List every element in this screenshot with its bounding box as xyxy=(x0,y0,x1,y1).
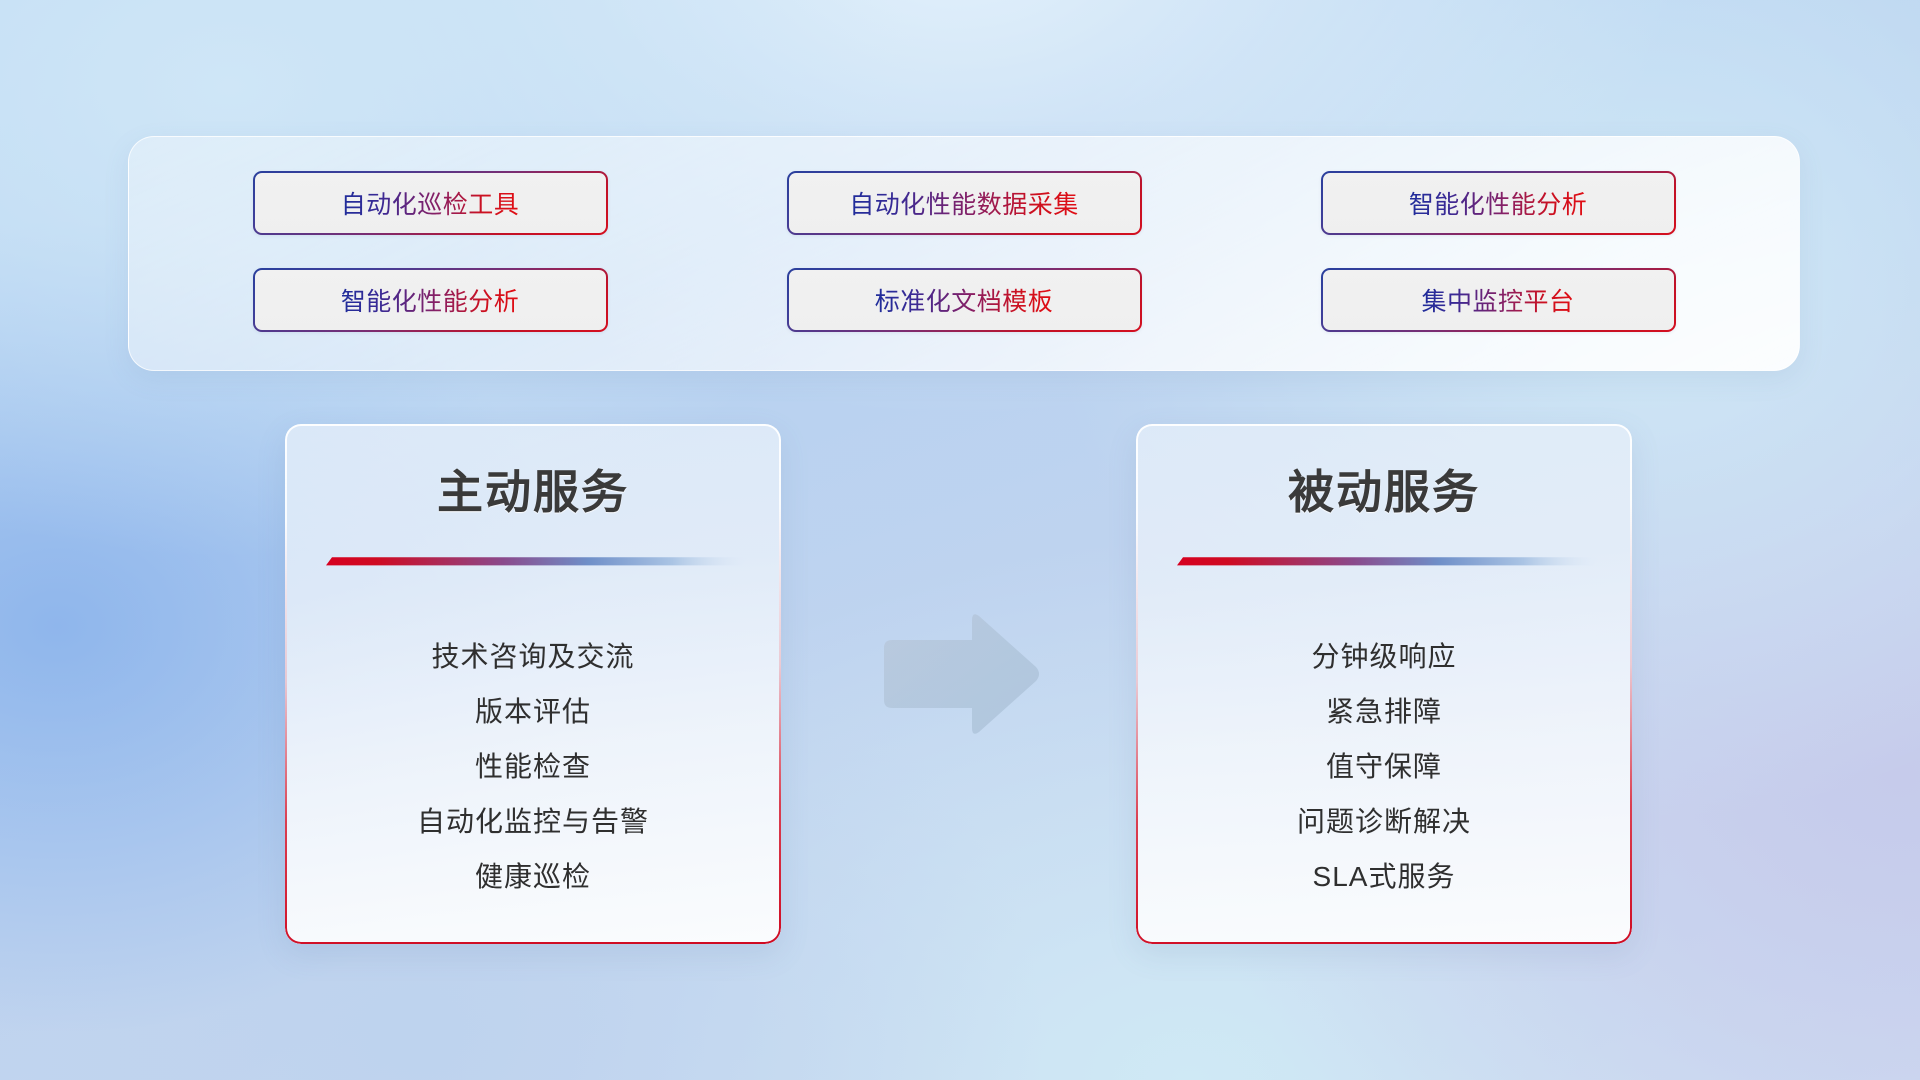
list-item: 分钟级响应 xyxy=(1311,635,1456,675)
right-arrow-icon xyxy=(876,610,1044,738)
service-card-title: 被动服务 xyxy=(1136,456,1632,522)
capability-tag-label: 集中监控平台 xyxy=(1421,282,1574,318)
card-divider-icon xyxy=(318,556,748,566)
capability-tag-label: 自动化性能数据采集 xyxy=(849,185,1079,221)
list-item: 性能检查 xyxy=(475,745,591,785)
service-card-title: 主动服务 xyxy=(285,456,781,522)
list-item: 版本评估 xyxy=(475,690,591,730)
list-item: SLA式服务 xyxy=(1313,855,1456,895)
capability-tag[interactable]: 智能化性能分析 xyxy=(253,268,608,332)
list-item: 健康巡检 xyxy=(475,855,591,895)
service-card-active: 主动服务 技术咨询及交流 版本评估 性能检查 自动化监控与告警 健康巡检 xyxy=(285,424,781,944)
list-item: 问题诊断解决 xyxy=(1297,800,1471,840)
capability-tag[interactable]: 集中监控平台 xyxy=(1321,268,1676,332)
capability-tag[interactable]: 标准化文档模板 xyxy=(787,268,1142,332)
capability-tag-panel: 自动化巡检工具 自动化性能数据采集 智能化性能分析 智能化性能分析 标准化文档模… xyxy=(128,136,1800,371)
list-item: 值守保障 xyxy=(1326,745,1442,785)
service-card-list: 技术咨询及交流 版本评估 性能检查 自动化监控与告警 健康巡检 xyxy=(285,620,781,910)
service-card-passive: 被动服务 分钟级响应 紧急排障 值守保障 问题诊断解决 SLA式服务 xyxy=(1136,424,1632,944)
capability-tag[interactable]: 自动化巡检工具 xyxy=(253,171,608,235)
slide-root: 自动化巡检工具 自动化性能数据采集 智能化性能分析 智能化性能分析 标准化文档模… xyxy=(0,0,1920,1080)
capability-tag[interactable]: 自动化性能数据采集 xyxy=(787,171,1142,235)
list-item: 技术咨询及交流 xyxy=(431,635,634,675)
capability-tag-label: 智能化性能分析 xyxy=(1409,185,1588,221)
capability-tag[interactable]: 智能化性能分析 xyxy=(1321,171,1676,235)
list-item: 紧急排障 xyxy=(1326,690,1442,730)
capability-tag-grid: 自动化巡检工具 自动化性能数据采集 智能化性能分析 智能化性能分析 标准化文档模… xyxy=(129,137,1799,370)
list-item: 自动化监控与告警 xyxy=(417,800,649,840)
capability-tag-label: 标准化文档模板 xyxy=(875,282,1054,318)
capability-tag-label: 智能化性能分析 xyxy=(341,282,520,318)
capability-tag-label: 自动化巡检工具 xyxy=(341,185,520,221)
card-divider-icon xyxy=(1169,556,1599,566)
service-card-list: 分钟级响应 紧急排障 值守保障 问题诊断解决 SLA式服务 xyxy=(1136,620,1632,910)
